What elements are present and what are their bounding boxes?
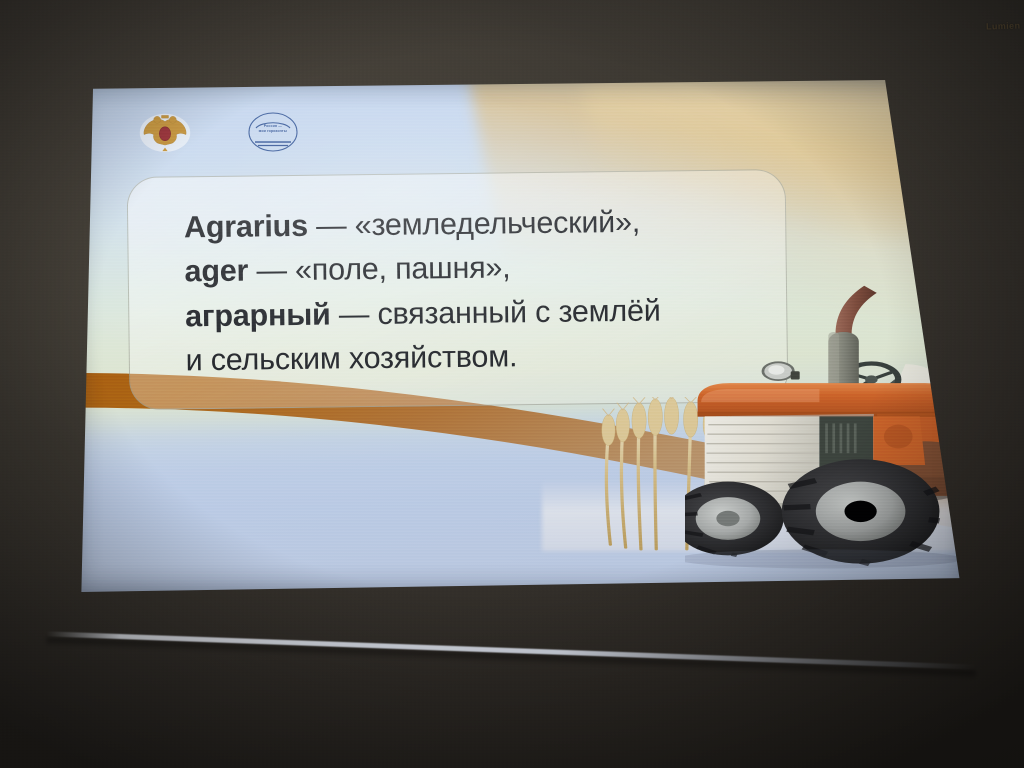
projector-screen-brand-label: Lumien [986, 21, 1021, 32]
slide-canvas: Россия — мои горизонты Agrarius — «земле… [76, 80, 972, 592]
gloss-agrarius: — «земледельческий», [308, 205, 641, 243]
tractor-hood [698, 383, 947, 417]
tractor-ground-shadow [685, 549, 963, 568]
term-ager: ager [184, 254, 248, 289]
slide-header-logos: Россия — мои горизонты [138, 111, 304, 153]
definition-line-2: ager — «поле, пашня», [184, 243, 772, 295]
logo-text-line1: Россия — [264, 124, 282, 128]
logo-text-line2: мои горизонты [259, 129, 287, 133]
term-agrarius: Agrarius [184, 209, 308, 245]
tractor-rear-wheel [782, 459, 940, 564]
definition-line-1: Agrarius — «земледельческий», [184, 198, 772, 250]
gloss-agrarnyy: — связанный с землёй [330, 293, 660, 331]
term-agrarnyy: аграрный [185, 297, 331, 333]
tractor-headlamp [763, 362, 800, 380]
coat-of-arms-eagle-icon [138, 112, 192, 152]
projected-slide: Россия — мои горизонты Agrarius — «земле… [76, 80, 972, 592]
gloss-agrarnyy-cont: и сельским хозяйством. [185, 340, 517, 378]
photo-scene: Lumien [0, 0, 1024, 768]
rossiya-moi-gorizonty-logo-icon: Россия — мои горизонты [242, 111, 304, 153]
gloss-ager: — «поле, пашня», [248, 251, 511, 288]
